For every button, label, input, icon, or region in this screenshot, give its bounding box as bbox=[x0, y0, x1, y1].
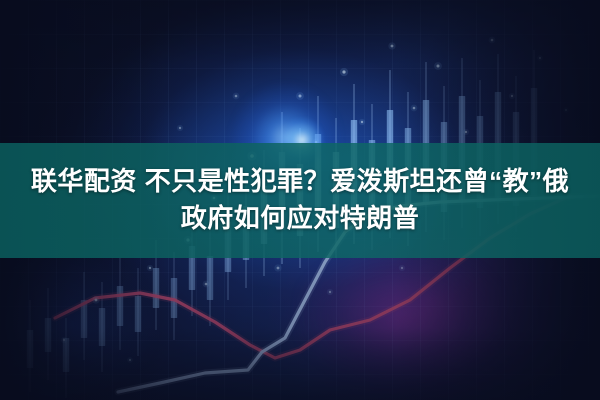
headline-line-1: 联华配资 不只是性犯罪？爱泼斯坦还曾“教”俄 bbox=[31, 166, 569, 198]
thumbnail-image: 联华配资 不只是性犯罪？爱泼斯坦还曾“教”俄 政府如何应对特朗普 bbox=[0, 0, 600, 400]
headline-container: 联华配资 不只是性犯罪？爱泼斯坦还曾“教”俄 政府如何应对特朗普 bbox=[0, 143, 600, 258]
headline-line-2: 政府如何应对特朗普 bbox=[181, 203, 420, 235]
